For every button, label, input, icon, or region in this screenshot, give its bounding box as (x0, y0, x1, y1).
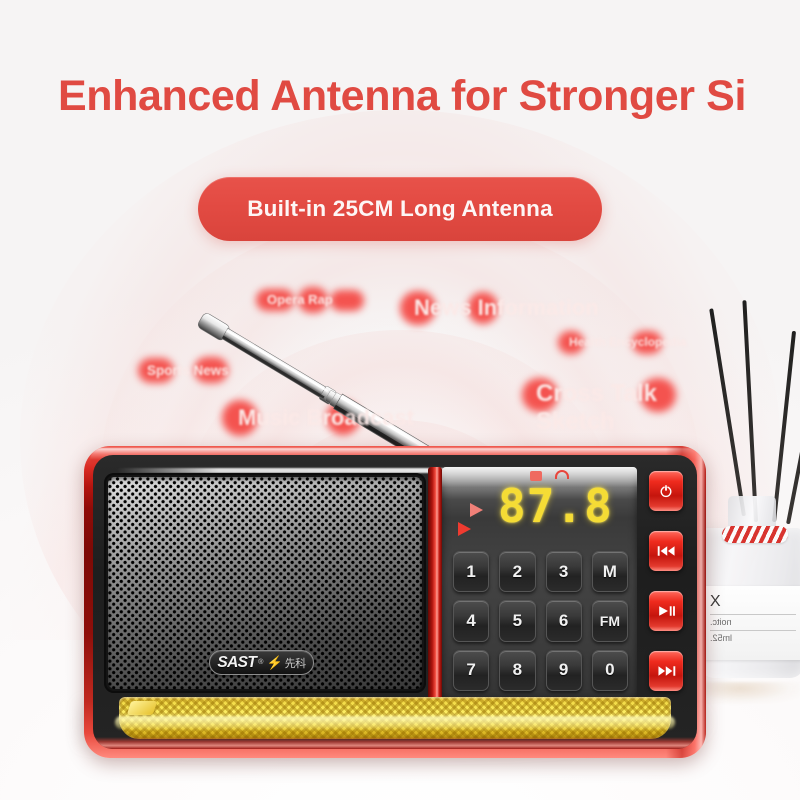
panel-divider (428, 467, 442, 701)
banner-stage: X .noitc .lm52 Enhanced Antenna for Stro… (0, 0, 800, 800)
gold-strip-nub (127, 701, 158, 715)
feature-pill-label: Built-in 25CM Long Antenna (247, 196, 553, 222)
previous-button[interactable] (649, 531, 683, 571)
key-9[interactable]: 9 (546, 650, 582, 691)
genre-tag-news-information: News Information (400, 291, 590, 325)
tag-blob (558, 331, 584, 354)
tag-blob (330, 290, 364, 311)
genre-tag-label: News Information (400, 291, 590, 325)
key-6[interactable]: 6 (546, 600, 582, 641)
label-rule-2 (710, 630, 796, 631)
power-button[interactable] (649, 471, 683, 511)
tag-blob (326, 401, 360, 435)
brand-name-cn: 先科 (285, 655, 306, 671)
next-track-icon (657, 664, 676, 678)
key-4[interactable]: 4 (453, 600, 489, 641)
diffuser-label: X .noitc .lm52 (704, 586, 800, 660)
antenna-indicator-icon (555, 470, 569, 479)
key-2[interactable]: 2 (499, 551, 535, 592)
label-rule-1 (710, 614, 796, 615)
side-button-column (643, 469, 689, 697)
genre-tag-cross-talk-sketch: Cross Talk Sketch (522, 378, 687, 434)
genre-tag-label: Sports News (138, 357, 243, 384)
diffuser-twine (722, 526, 788, 543)
genre-tag-opera-rap: Opera Rap (256, 287, 366, 313)
lightning-bolt-icon: ⚡ (266, 655, 282, 671)
keypad[interactable]: 1 2 3 M 4 5 6 FM 7 8 9 0 (453, 551, 628, 691)
tag-blobs (222, 400, 408, 436)
led-frequency-display: 87.8 (498, 483, 613, 529)
tag-blob (400, 291, 436, 325)
tag-blob (522, 378, 558, 412)
tag-blob (640, 378, 676, 412)
reed-stick-1 (709, 308, 746, 516)
diffuser-label-line2: .lm52 (704, 634, 800, 644)
tag-blob (468, 292, 498, 324)
key-3[interactable]: 3 (546, 551, 582, 592)
diffuser-label-big: X (704, 586, 800, 611)
brand-badge: SAST ® ⚡ 先科 (209, 650, 314, 675)
genre-tag-label: Opera Rap (256, 287, 366, 313)
tag-blob (256, 289, 294, 311)
tag-blob (632, 331, 662, 354)
diffuser-label-line1: .noitc (704, 618, 800, 628)
genre-tag-health-encyclopedia: Health Encyclopedia (558, 331, 688, 354)
tag-blob (194, 357, 228, 383)
key-0[interactable]: 0 (592, 650, 628, 691)
key-7[interactable]: 7 (453, 650, 489, 691)
genre-tag-music-broadcast: Music Broadcast (222, 400, 408, 436)
genre-tag-label: Music Broadcast (222, 400, 408, 436)
key-1[interactable]: 1 (453, 551, 489, 592)
brand-name: SAST (217, 654, 256, 672)
power-icon (658, 483, 674, 499)
page-title: Enhanced Antenna for Stronger Si (58, 74, 746, 119)
key-5[interactable]: 5 (499, 600, 535, 641)
tag-blobs (522, 378, 687, 434)
telescopic-antenna (198, 312, 538, 462)
play-pause-button[interactable] (649, 591, 683, 631)
genre-tag-label: Health Encyclopedia (558, 331, 688, 354)
tag-blob (138, 358, 174, 383)
tag-blobs (256, 287, 366, 313)
tag-blobs (400, 291, 590, 325)
radio-front-panel: SAST ® ⚡ 先科 87.8 1 2 3 M (93, 455, 697, 749)
genre-tag-sports-news: Sports News (138, 357, 243, 384)
previous-track-icon (657, 544, 676, 558)
genre-tag-label: Cross Talk Sketch (522, 378, 682, 436)
gold-strip-highlight (115, 716, 675, 729)
radio-device: SAST ® ⚡ 先科 87.8 1 2 3 M (84, 446, 706, 758)
speaker-panel: SAST ® ⚡ 先科 (104, 473, 426, 693)
signal-triangle-icon-2 (458, 522, 471, 536)
reed-stick-2 (742, 300, 758, 522)
key-8[interactable]: 8 (499, 650, 535, 691)
tag-blobs (558, 331, 688, 354)
control-panel: 87.8 1 2 3 M 4 5 6 FM 7 8 9 0 (442, 467, 637, 699)
signal-triangle-icon-1 (470, 503, 483, 517)
tag-blobs (138, 357, 243, 384)
tag-blob (298, 287, 328, 313)
key-fm[interactable]: FM (592, 600, 628, 641)
antenna-svg (198, 312, 538, 462)
brand-trademark-icon: ® (258, 659, 263, 666)
tag-blob (222, 400, 258, 436)
key-memory[interactable]: M (592, 551, 628, 592)
feature-pill: Built-in 25CM Long Antenna (198, 177, 602, 241)
play-pause-icon (657, 604, 676, 618)
radio-bottom-edge (93, 737, 697, 749)
next-button[interactable] (649, 651, 683, 691)
